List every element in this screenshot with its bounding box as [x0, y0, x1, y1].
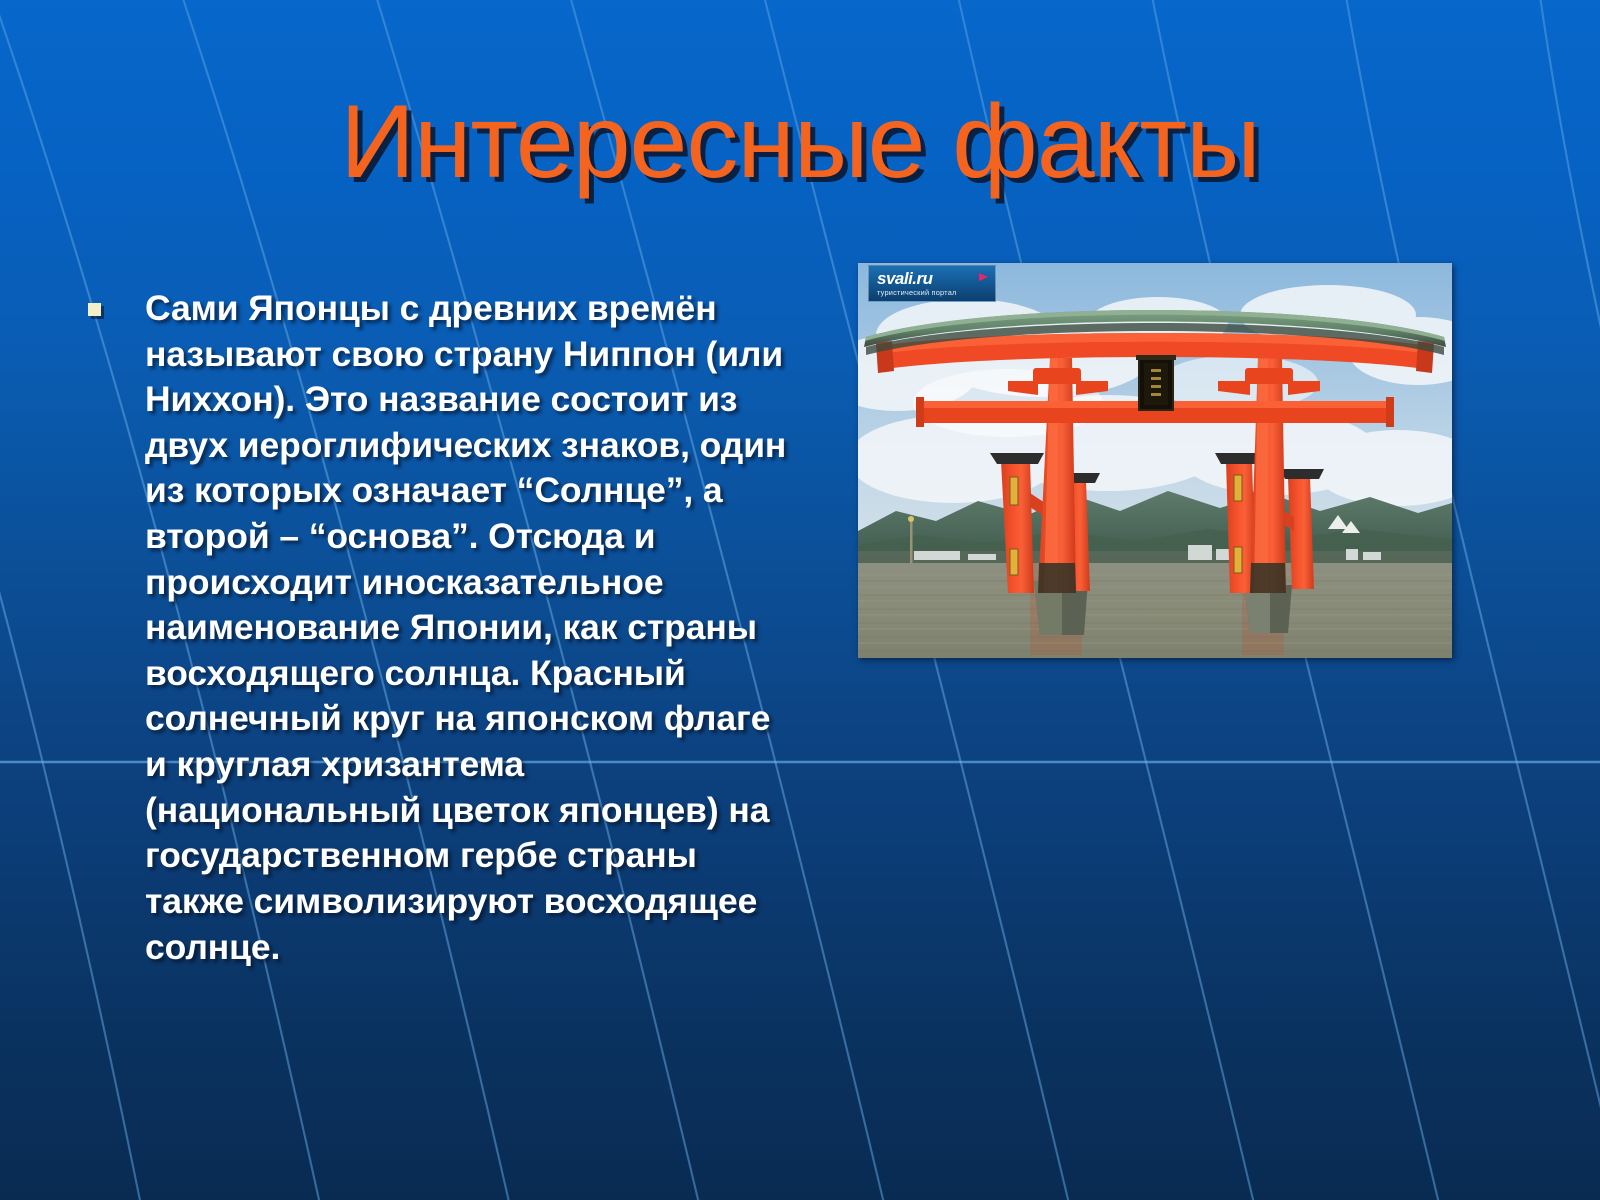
- torii-gate-photo: [858, 263, 1452, 658]
- title-block: Интересные факты: [0, 88, 1600, 196]
- watermark-arrow-icon: [979, 273, 988, 281]
- bullet-text: Сами Японцы с древних времён называют св…: [145, 286, 788, 970]
- watermark-subtitle: туристический портал: [877, 289, 987, 296]
- list-item: Сами Японцы с древних времён называют св…: [88, 286, 788, 970]
- photo-watermark: svali.ru туристический портал: [868, 265, 996, 302]
- page-title: Интересные факты: [340, 88, 1260, 196]
- presentation-slide: Интересные факты Сами Японцы с древних в…: [0, 0, 1600, 1200]
- square-bullet-icon: [88, 303, 101, 316]
- watermark-brand: svali.ru: [877, 270, 987, 287]
- content-body: Сами Японцы с древних времён называют св…: [88, 286, 788, 970]
